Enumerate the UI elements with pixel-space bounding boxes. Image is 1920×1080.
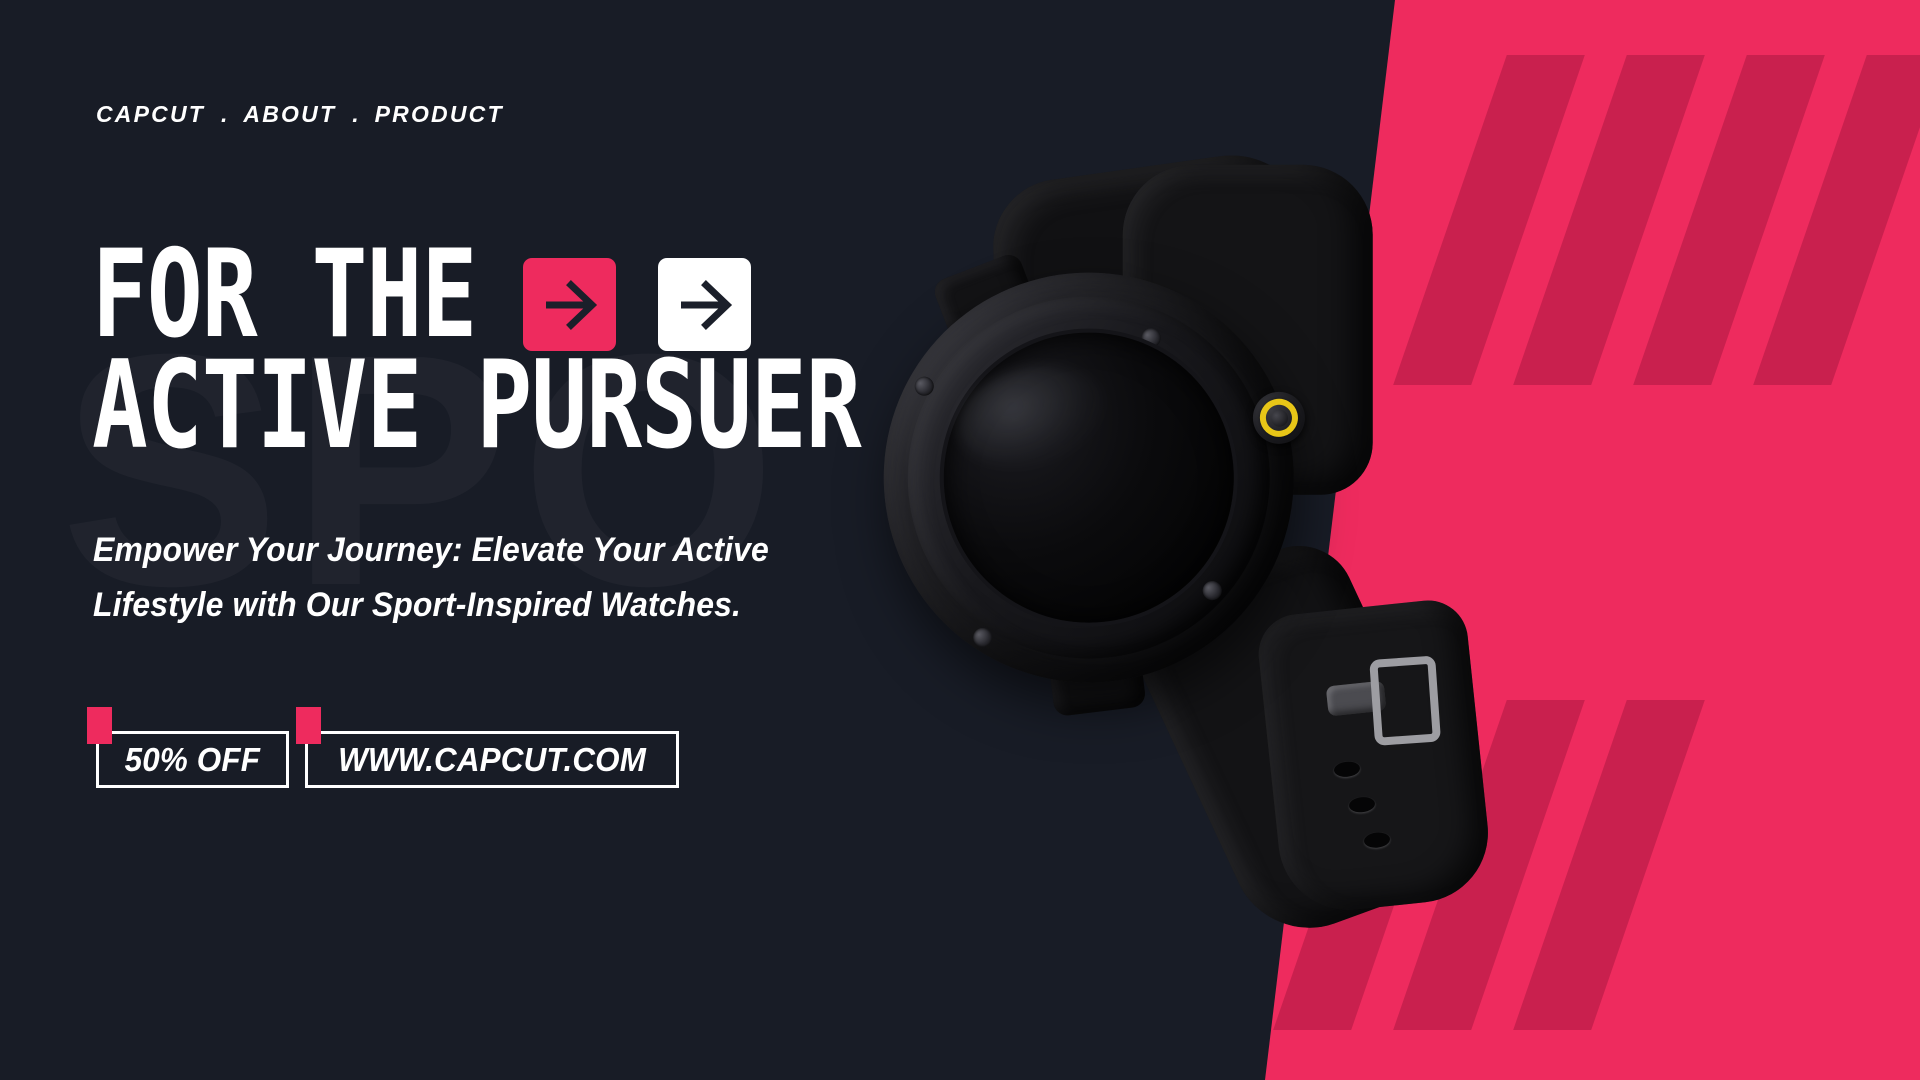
watch-strap-lower-inner (1255, 597, 1495, 917)
nav-item-capcut[interactable]: CAPCUT (96, 101, 205, 128)
subtitle-line-1: Empower Your Journey: Elevate Your Activ… (93, 523, 789, 578)
discount-badge-label: 50% OFF (125, 741, 260, 779)
arrow-button-primary[interactable] (523, 258, 616, 351)
arrow-button-group (523, 258, 751, 351)
badge-corner-accent (296, 707, 321, 744)
headline-block: FOR THE ACTIVE PURSUER (92, 243, 912, 459)
nav-separator: . (336, 101, 374, 128)
headline-line-1-row: FOR THE (92, 243, 912, 348)
nav-separator: . (205, 101, 243, 128)
product-image-smartwatch (880, 130, 1620, 920)
banner-canvas: SPO (0, 0, 1920, 1080)
website-badge-label: WWW.CAPCUT.COM (338, 741, 646, 779)
arrow-right-icon (540, 275, 600, 335)
nav-item-about[interactable]: ABOUT (243, 101, 336, 128)
discount-badge[interactable]: 50% OFF (96, 731, 289, 788)
website-badge[interactable]: WWW.CAPCUT.COM (305, 731, 679, 788)
cta-badge-row: 50% OFF WWW.CAPCUT.COM (96, 715, 679, 788)
subtitle-block: Empower Your Journey: Elevate Your Activ… (93, 523, 833, 633)
badge-corner-accent (87, 707, 112, 744)
arrow-button-secondary[interactable] (658, 258, 751, 351)
arrow-right-icon (675, 275, 735, 335)
nav-item-product[interactable]: PRODUCT (375, 101, 504, 128)
headline-line-2-row: ACTIVE PURSUER (92, 354, 912, 459)
headline-line-2: ACTIVE PURSUER (92, 345, 861, 469)
top-navigation[interactable]: CAPCUT . ABOUT . PRODUCT (96, 101, 504, 128)
subtitle-line-2: Lifestyle with Our Sport-Inspired Watche… (93, 578, 789, 633)
watch-buckle (1369, 655, 1441, 745)
